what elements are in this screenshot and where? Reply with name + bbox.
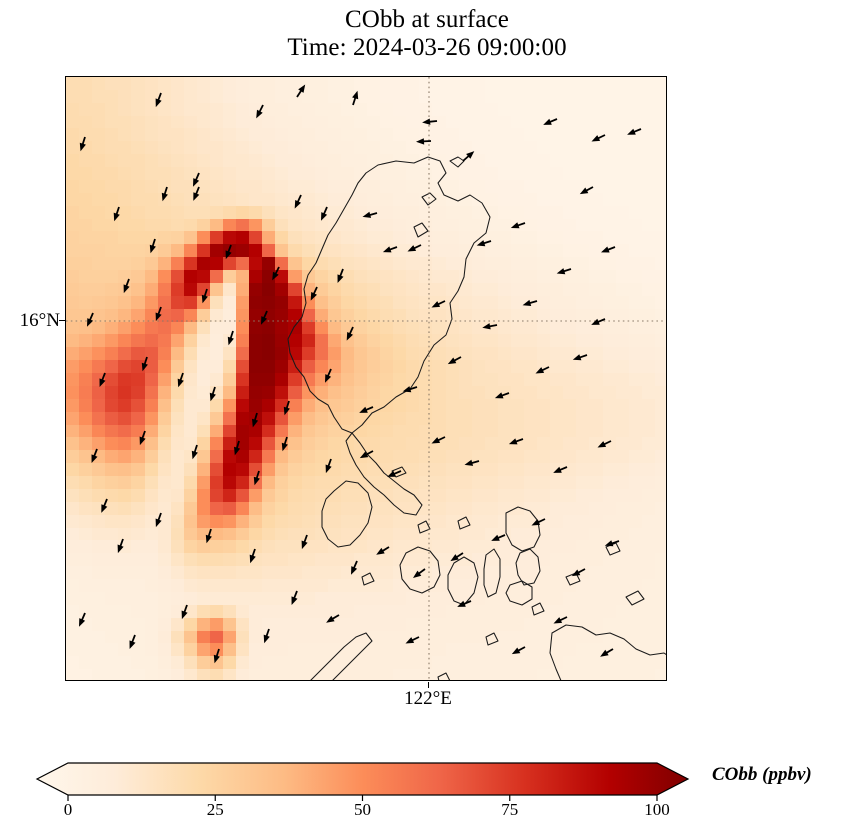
latitude-label-16n: 16°N: [20, 310, 60, 332]
colorbar-axis-label: CObb (ppbv): [712, 764, 812, 786]
colorbar-tick-label-100: 100: [644, 800, 670, 820]
colorbar-tick-label-25: 25: [207, 800, 224, 820]
gridline-layer: [66, 77, 667, 681]
longitude-label-122e: 122°E: [1, 688, 854, 710]
colorbar-tick-label-50: 50: [354, 800, 371, 820]
figure-title: CObb at surface Time: 2024-03-26 09:00:0…: [0, 6, 854, 62]
colorbar-tick-label-0: 0: [64, 800, 73, 820]
map-overlay: [66, 77, 667, 681]
coastline-layer: [244, 157, 667, 681]
colorbar-gradient-bar[interactable]: [37, 763, 688, 795]
title-line-variable: CObb at surface: [0, 6, 854, 34]
map-plot-area[interactable]: [65, 76, 667, 681]
wind-vector-layer: [79, 85, 641, 664]
colorbar-tick-label-75: 75: [501, 800, 518, 820]
title-line-time: Time: 2024-03-26 09:00:00: [0, 34, 854, 62]
